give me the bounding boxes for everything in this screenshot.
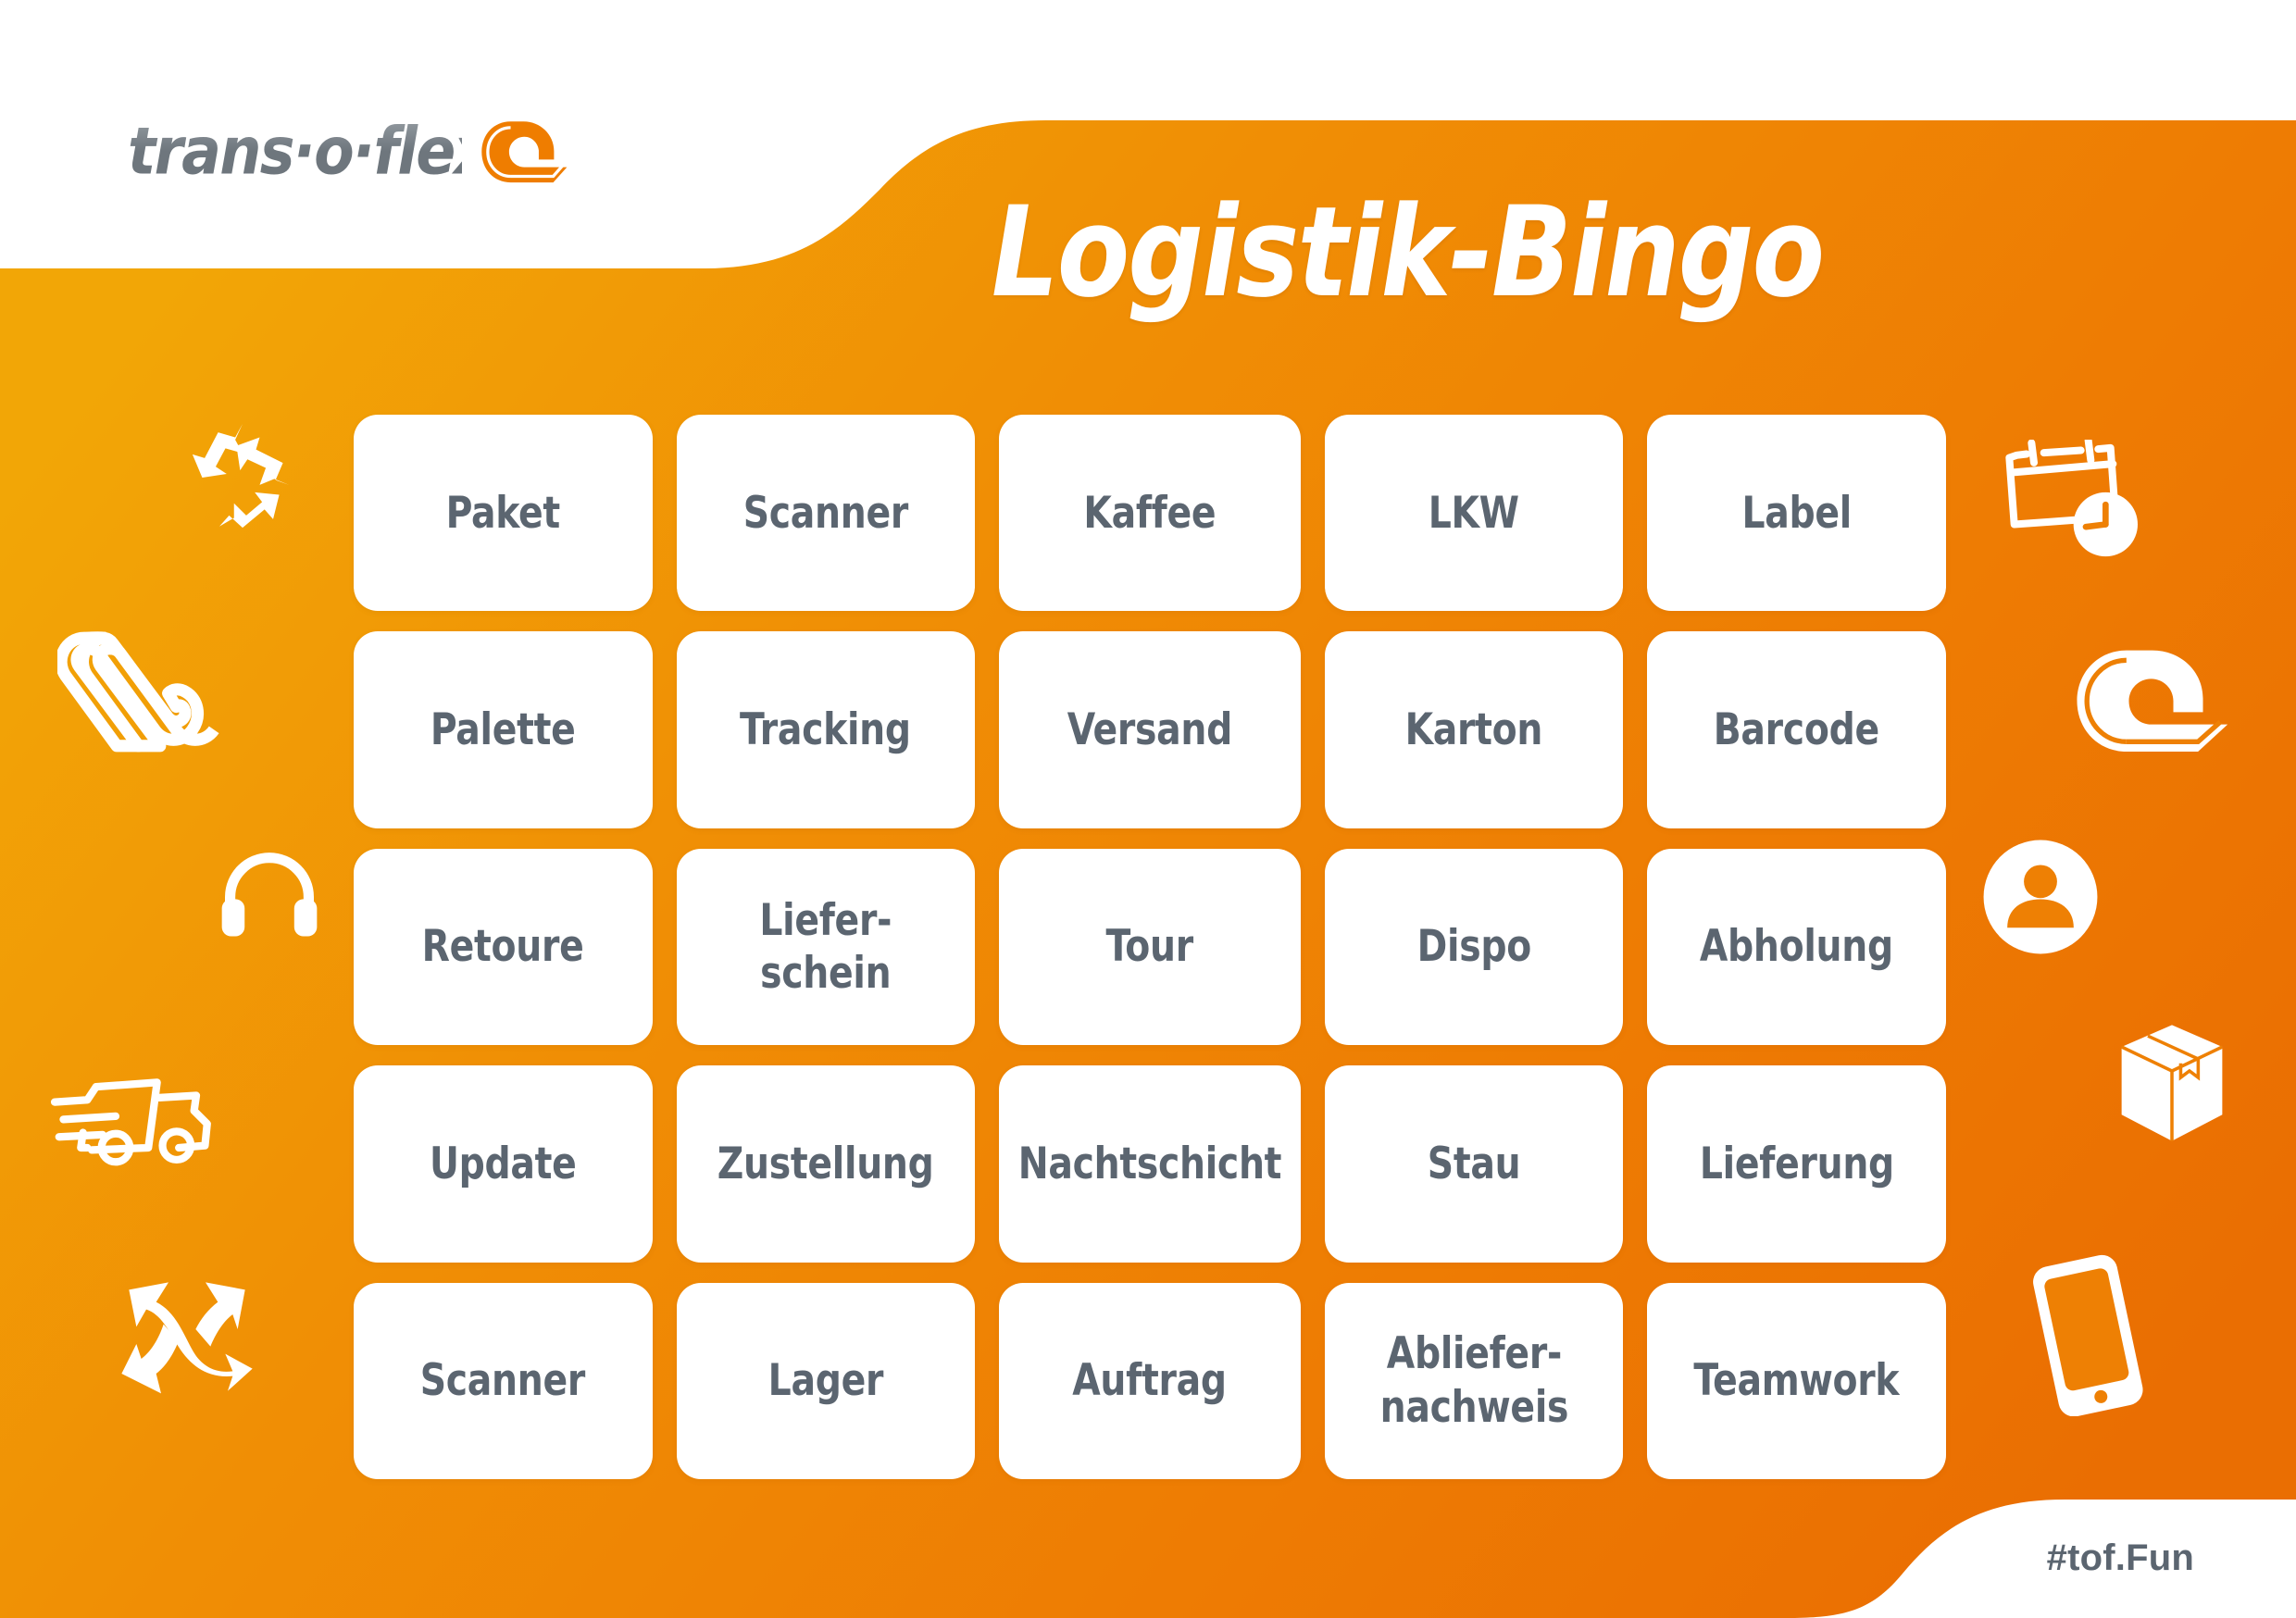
bingo-grid: Paket Scanner Kaffee LKW Label Palette T… — [354, 415, 1946, 1479]
bingo-cell[interactable]: Liefer- schein — [677, 849, 976, 1045]
bingo-cell-label: Nachtschicht — [1018, 1138, 1282, 1190]
bingo-cell-label: Tour — [1106, 920, 1193, 973]
poster-canvas: trans·o·flex Logistik-Bingo — [0, 0, 2296, 1618]
bingo-cell[interactable]: Versand — [999, 631, 1301, 828]
bingo-cell-label: Kaffee — [1084, 487, 1217, 540]
smartphone-icon — [2028, 1254, 2148, 1416]
bingo-cell[interactable]: Stau — [1325, 1065, 1624, 1262]
bingo-cell[interactable]: Kaffee — [999, 415, 1301, 611]
bingo-cell-label: Teamwork — [1694, 1354, 1900, 1407]
bingo-cell[interactable]: Abliefer- nachweis — [1325, 1283, 1624, 1479]
shuffle-arrows-icon — [119, 1277, 256, 1396]
bingo-cell-label: Abholung — [1700, 920, 1893, 973]
delivery-truck-icon — [48, 1055, 233, 1166]
svg-text:trans·o·flex: trans·o·flex — [128, 113, 462, 189]
bingo-cell[interactable]: Scanner — [677, 415, 976, 611]
paperclip-icon — [57, 629, 219, 754]
bingo-cell[interactable]: LKW — [1325, 415, 1624, 611]
bingo-cell-label: Scanner — [743, 487, 908, 540]
bingo-cell[interactable]: Update — [354, 1065, 653, 1262]
bingo-cell-label: Zustellung — [717, 1138, 934, 1190]
bingo-cell[interactable]: Abholung — [1647, 849, 1946, 1045]
bingo-cell[interactable]: Karton — [1325, 631, 1624, 828]
bingo-cell[interactable]: Lager — [677, 1283, 976, 1479]
bingo-cell-label: Lieferung — [1700, 1138, 1894, 1190]
bingo-cell-label: Karton — [1405, 703, 1543, 756]
bingo-cell-label: Lager — [768, 1354, 883, 1407]
bingo-cell[interactable]: Barcode — [1647, 631, 1946, 828]
bingo-cell-label: Abliefer- nachweis — [1379, 1327, 1567, 1434]
tape-roll-logo-mark — [479, 118, 570, 187]
bingo-cell[interactable]: Zustellung — [677, 1065, 976, 1262]
bingo-cell-label: Update — [430, 1138, 577, 1190]
headphones-icon — [218, 852, 321, 940]
tape-roll-icon — [2074, 648, 2236, 759]
hashtag-label: #tof.Fun — [2047, 1537, 2194, 1579]
bingo-cell[interactable]: Dispo — [1325, 849, 1624, 1045]
bingo-cell-label: Palette — [430, 703, 576, 756]
bingo-cell[interactable]: Label — [1647, 415, 1946, 611]
recycle-icon — [181, 417, 304, 539]
bingo-cell-label: LKW — [1429, 487, 1519, 540]
user-avatar-icon — [1981, 838, 2100, 956]
bingo-cell-label: Barcode — [1714, 703, 1879, 756]
bingo-cell[interactable]: Tracking — [677, 631, 976, 828]
package-box-icon — [2115, 1023, 2228, 1143]
trans-o-flex-wordmark: trans·o·flex — [128, 113, 462, 193]
bingo-cell-label: Dispo — [1417, 920, 1531, 973]
bingo-cell[interactable]: Teamwork — [1647, 1283, 1946, 1479]
bingo-cell[interactable]: Retoure — [354, 849, 653, 1045]
bingo-cell[interactable]: Palette — [354, 631, 653, 828]
bingo-cell-label: Stau — [1428, 1138, 1521, 1190]
bingo-cell[interactable]: Auftrag — [999, 1283, 1301, 1479]
bingo-cell-label: Tracking — [740, 703, 911, 756]
page-title: Logistik-Bingo — [850, 190, 1964, 315]
bingo-cell-label: Scanner — [420, 1354, 585, 1407]
bingo-cell-label: Versand — [1067, 703, 1232, 756]
bingo-cell-label: Retoure — [422, 920, 584, 973]
bingo-cell[interactable]: Scanner — [354, 1283, 653, 1479]
brand-logo: trans·o·flex — [128, 102, 628, 204]
bingo-cell-label: Paket — [446, 487, 560, 540]
calendar-clock-icon — [2004, 440, 2152, 565]
bingo-cell-label: Auftrag — [1073, 1354, 1227, 1407]
bingo-cell[interactable]: Nachtschicht — [999, 1065, 1301, 1262]
bingo-cell[interactable]: Tour — [999, 849, 1301, 1045]
bingo-cell[interactable]: Lieferung — [1647, 1065, 1946, 1262]
bingo-cell-label: Label — [1741, 487, 1851, 540]
bingo-cell[interactable]: Paket — [354, 415, 653, 611]
bingo-cell-label: Liefer- schein — [759, 894, 892, 1001]
